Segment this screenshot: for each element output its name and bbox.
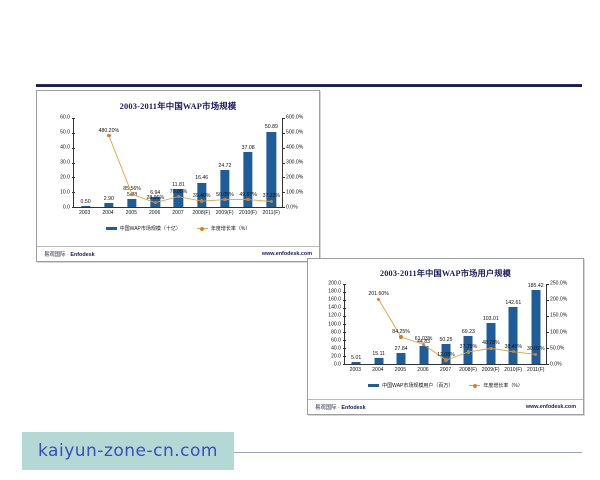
y-tickmark-right: [282, 148, 285, 149]
legend-label: 中国WAP市场规模（十亿）: [120, 225, 181, 232]
line-marker: [489, 347, 492, 350]
y-tickmark-left: [72, 192, 75, 193]
y-tick-left: 60.0: [60, 115, 70, 120]
y-tick-right: 200.0%: [286, 175, 303, 180]
chart-legend: 中国WAP市场规模（十亿）年度增长率（%）: [37, 222, 319, 232]
y-tickmark-left: [343, 308, 346, 309]
y-tickmark-left: [72, 177, 75, 178]
y-tickmark-right: [546, 332, 549, 333]
y-tick-right: 400.0%: [286, 145, 303, 150]
y-tick-left: 80.0: [331, 330, 341, 335]
growth-rate-label: 85.56%: [123, 187, 141, 192]
x-axis: 200320042005200620072008(F)2009(F)2010(F…: [344, 366, 547, 379]
y-tick-left: 30.0: [60, 160, 70, 165]
y-axis-left: 0.010.020.030.040.050.060.0: [43, 118, 73, 208]
y-axis-left: 0.020.040.060.080.0100.0120.0140.0160.01…: [314, 284, 344, 365]
chart-title: 2003-2011年中国WAP市场用户规模: [308, 259, 583, 279]
x-tick-label: 2006: [412, 366, 435, 379]
footer-source-brand: Enfodesk: [341, 405, 365, 411]
y-tick-right: 150.0%: [550, 314, 567, 319]
growth-rate-label: 38.45%: [505, 345, 523, 350]
chart-title: 2003-2011年中国WAP市场规模: [37, 91, 319, 112]
x-tick-label: 2004: [96, 209, 119, 222]
x-tick-label: 2006: [143, 209, 166, 222]
x-tick-label: 2007: [166, 209, 189, 222]
y-tickmark-right: [546, 364, 549, 365]
growth-rate-label: 49.97%: [239, 193, 257, 198]
line-marker: [444, 358, 447, 361]
y-tickmark-left: [72, 207, 75, 208]
growth-rate-label: 48.78%: [482, 341, 500, 346]
y-tickmark-left: [72, 133, 75, 134]
line-series: 480.20%85.56%28.96%70.05%39.40%50.05%49.…: [74, 118, 283, 207]
chart-footer: 易观国际 · Enfodesk www.enfodesk.com: [37, 246, 319, 261]
site-watermark: kaiyun-zone-cn.com: [22, 432, 234, 470]
x-tick-label: 2011(F): [260, 209, 283, 222]
y-tick-left: 200.0: [328, 281, 341, 286]
line-marker: [467, 350, 470, 353]
y-tick-left: 0.0: [334, 362, 341, 367]
line-swatch-icon: [197, 227, 208, 231]
y-tickmark-left: [343, 356, 346, 357]
line-series: 201.60%84.25%61.03%12.08%37.79%48.78%38.…: [345, 284, 547, 364]
y-tick-left: 50.0: [60, 130, 70, 135]
footer-source-brand: Enfodesk: [70, 252, 94, 258]
line-marker: [223, 198, 226, 201]
y-tickmark-left: [343, 348, 346, 349]
y-tickmark-right: [546, 300, 549, 301]
line-marker: [399, 335, 402, 338]
y-tick-right: 300.0%: [286, 160, 303, 165]
legend-item[interactable]: 年度增长率（%）: [469, 382, 522, 389]
y-tick-left: 140.0: [328, 306, 341, 311]
y-tick-left: 40.0: [331, 346, 341, 351]
footer-source: 易观国际 · Enfodesk: [315, 403, 366, 411]
growth-rate-label: 28.96%: [146, 196, 164, 201]
slide-top-divider: [36, 84, 582, 87]
legend-label: 年度增长率（%）: [211, 225, 250, 232]
legend-item[interactable]: 年度增长率（%）: [197, 225, 250, 232]
x-tick-label: 2010(F): [236, 209, 259, 222]
footer-source-prefix: 易观国际 ·: [44, 252, 70, 258]
line-swatch-icon: [469, 384, 480, 388]
x-tick-label: 2005: [120, 209, 143, 222]
growth-rate-label: 39.40%: [193, 194, 211, 199]
y-tickmark-right: [546, 348, 549, 349]
watermark-text: kaiyun-zone-cn.com: [38, 441, 218, 461]
footer-url[interactable]: www.enfodesk.com: [262, 251, 312, 257]
y-tick-left: 160.0: [328, 298, 341, 303]
chart-plot-area: 0.020.040.060.080.0100.0120.0140.0160.01…: [314, 284, 577, 379]
y-tick-left: 0.0: [63, 205, 70, 210]
y-tickmark-left: [72, 148, 75, 149]
x-tick-label: 2007: [434, 366, 457, 379]
x-axis: 200320042005200620072008(F)2009(F)2010(F…: [73, 209, 283, 222]
y-tickmark-right: [282, 133, 285, 134]
growth-rate-label: 50.05%: [216, 193, 234, 198]
y-tick-left: 10.0: [60, 190, 70, 195]
y-tickmark-right: [546, 316, 549, 317]
y-tick-left: 100.0: [328, 322, 341, 327]
chart-plot-area: 0.010.020.030.040.050.060.0 0.0%100.0%20…: [43, 118, 313, 222]
footer-source: 易观国际 · Enfodesk: [44, 250, 95, 258]
y-tickmark-right: [282, 118, 285, 119]
y-tickmark-right: [282, 207, 285, 208]
y-tick-left: 180.0: [328, 290, 341, 295]
chart-card-market-size: 2003-2011年中国WAP市场规模 0.010.020.030.040.05…: [36, 90, 320, 262]
legend-label: 年度增长率（%）: [483, 382, 522, 389]
x-tick-label: 2003: [73, 209, 96, 222]
y-tick-right: 0.0%: [550, 362, 562, 367]
x-tick-label: 2004: [367, 366, 390, 379]
y-tickmark-left: [343, 364, 346, 365]
y-tick-right: 100.0%: [550, 330, 567, 335]
x-tick-label: 2008(F): [457, 366, 480, 379]
x-tick-label: 2011(F): [525, 366, 548, 379]
bar-swatch-icon: [368, 384, 379, 388]
bar-swatch-icon: [106, 227, 117, 231]
growth-rate-label: 201.60%: [368, 292, 388, 297]
y-tick-right: 600.0%: [286, 115, 303, 120]
x-tick-label: 2010(F): [502, 366, 525, 379]
growth-rate-label: 30.02%: [527, 347, 545, 352]
y-tick-right: 500.0%: [286, 130, 303, 135]
line-marker: [130, 193, 133, 196]
footer-source-prefix: 易观国际 ·: [315, 405, 341, 411]
legend-label: 中国WAP市场规模用户（百万）: [382, 382, 453, 389]
growth-rate-label: 12.08%: [437, 353, 455, 358]
y-tickmark-left: [343, 340, 346, 341]
y-tick-right: 50.0%: [550, 346, 564, 351]
y-tickmark-left: [343, 284, 346, 285]
footer-url[interactable]: www.enfodesk.com: [526, 404, 576, 410]
y-tickmark-left: [343, 332, 346, 333]
y-tick-left: 60.0: [331, 338, 341, 343]
y-tickmark-left: [72, 118, 75, 119]
plot-canvas: 0.502.905.386.9411.8116.4624.7237.0850.8…: [73, 118, 283, 208]
x-tick-label: 2008(F): [190, 209, 213, 222]
x-tick-label: 2009(F): [213, 209, 236, 222]
y-tick-right: 250.0%: [550, 281, 567, 286]
growth-rate-label: 37.79%: [460, 345, 478, 350]
chart-footer: 易观国际 · Enfodesk www.enfodesk.com: [308, 399, 583, 414]
legend-item[interactable]: 中国WAP市场规模（十亿）: [106, 225, 181, 232]
growth-rate-label: 480.20%: [99, 129, 119, 134]
y-tick-right: 0.0%: [286, 205, 298, 210]
y-tickmark-left: [343, 316, 346, 317]
legend-item[interactable]: 中国WAP市场规模用户（百万）: [368, 382, 453, 389]
x-tick-label: 2003: [344, 366, 367, 379]
y-tickmark-right: [282, 177, 285, 178]
y-tickmark-right: [282, 163, 285, 164]
y-tickmark-left: [343, 300, 346, 301]
y-axis-right: 0.0%50.0%100.0%150.0%200.0%250.0%: [547, 284, 577, 365]
growth-rate-label: 84.25%: [392, 330, 410, 335]
y-tickmark-left: [343, 292, 346, 293]
y-tickmark-right: [546, 284, 549, 285]
chart-card-user-scale: 2003-2011年中国WAP市场用户规模 0.020.040.060.080.…: [307, 258, 584, 415]
growth-rate-label: 37.23%: [263, 194, 281, 199]
y-tick-left: 120.0: [328, 314, 341, 319]
y-tickmark-left: [72, 163, 75, 164]
chart-legend: 中国WAP市场规模用户（百万）年度增长率（%）: [308, 379, 583, 389]
y-tickmark-right: [282, 192, 285, 193]
y-tick-left: 20.0: [331, 354, 341, 359]
y-tick-right: 200.0%: [550, 298, 567, 303]
y-tickmark-left: [343, 324, 346, 325]
plot-canvas: 5.0115.1127.8444.8350.2569.23103.01142.6…: [344, 284, 547, 365]
x-tick-label: 2009(F): [479, 366, 502, 379]
y-tick-left: 40.0: [60, 145, 70, 150]
y-axis-right: 0.0%100.0%200.0%300.0%400.0%500.0%600.0%: [283, 118, 313, 208]
growth-rate-label: 61.03%: [415, 337, 433, 342]
y-tick-right: 100.0%: [286, 190, 303, 195]
growth-rate-label: 70.05%: [170, 190, 188, 195]
x-tick-label: 2005: [389, 366, 412, 379]
y-tick-left: 20.0: [60, 175, 70, 180]
